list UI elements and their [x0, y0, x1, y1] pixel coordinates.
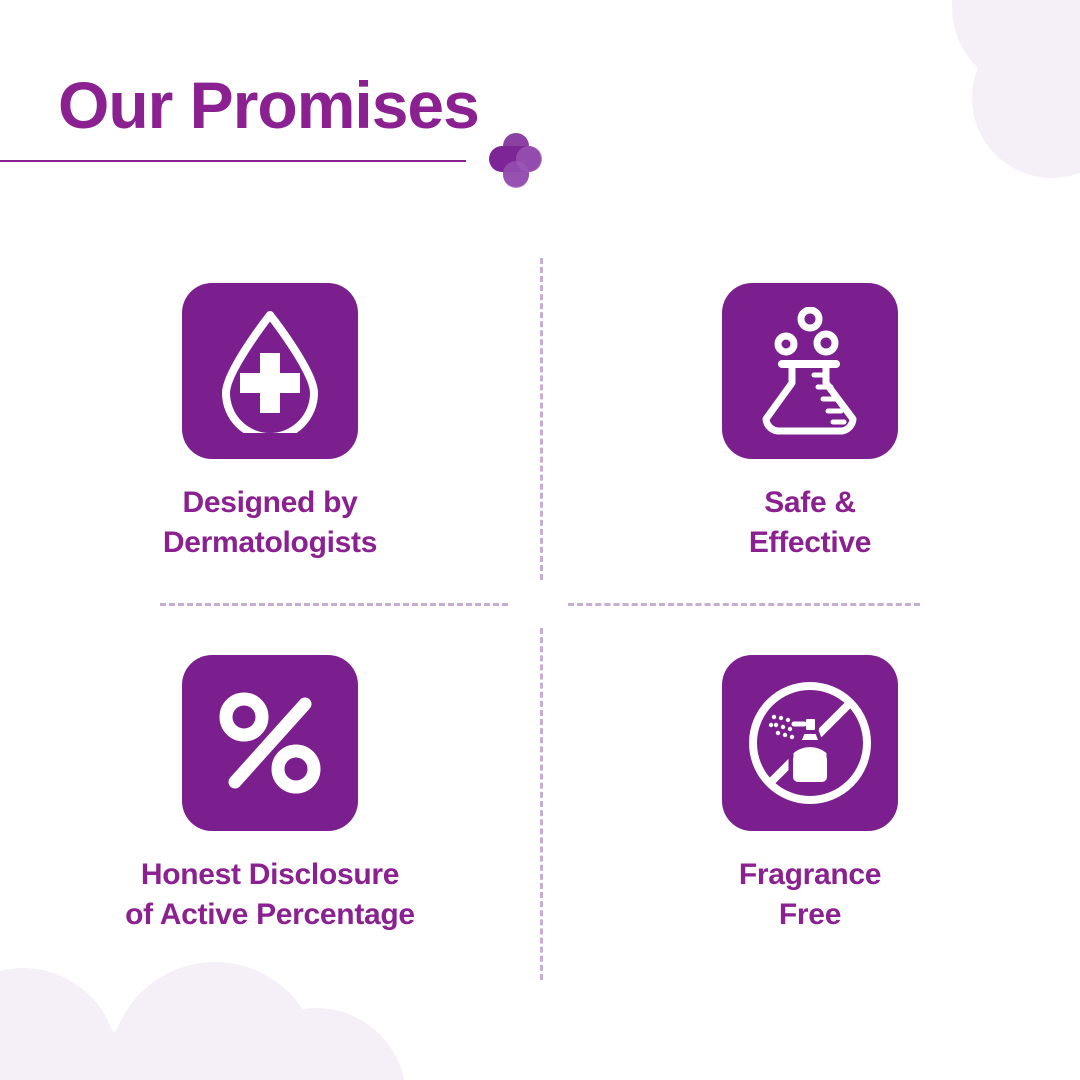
- promise-grid: Designed by Dermatologists: [0, 250, 1080, 990]
- page-title: Our Promises: [58, 72, 479, 138]
- promise-item-designed-by-dermatologists: Designed by Dermatologists: [0, 250, 540, 620]
- promise-item-fragrance-free: Fragrance Free: [540, 622, 1080, 992]
- plus-mark-icon: [489, 133, 545, 195]
- decor-blob-bottom-left-5: [0, 1022, 120, 1080]
- icon-tile: [722, 655, 898, 831]
- promise-label: Honest Disclosure of Active Percentage: [125, 855, 415, 934]
- promise-item-honest-disclosure: Honest Disclosure of Active Percentage: [0, 622, 540, 992]
- promise-label: Safe & Effective: [749, 483, 871, 562]
- promises-poster: Our Promises Designed by Dermatologists: [0, 0, 1080, 1080]
- decor-blob-bottom-left-4: [226, 1008, 406, 1080]
- icon-tile: [182, 655, 358, 831]
- flask-icon: [752, 307, 868, 435]
- icon-tile: [182, 283, 358, 459]
- title-underline: [0, 160, 466, 162]
- promise-label: Designed by Dermatologists: [163, 483, 377, 562]
- promise-label: Fragrance Free: [739, 855, 881, 934]
- no-fragrance-icon: [747, 680, 873, 806]
- header: Our Promises: [0, 0, 1080, 210]
- percent-icon: [217, 690, 323, 796]
- decor-blob-bottom-left-3: [58, 1022, 254, 1080]
- plus-mark-bottom-lobe: [503, 161, 529, 188]
- promise-item-safe-and-effective: Safe & Effective: [540, 250, 1080, 620]
- icon-tile: [722, 283, 898, 459]
- droplet-plus-icon: [214, 309, 326, 433]
